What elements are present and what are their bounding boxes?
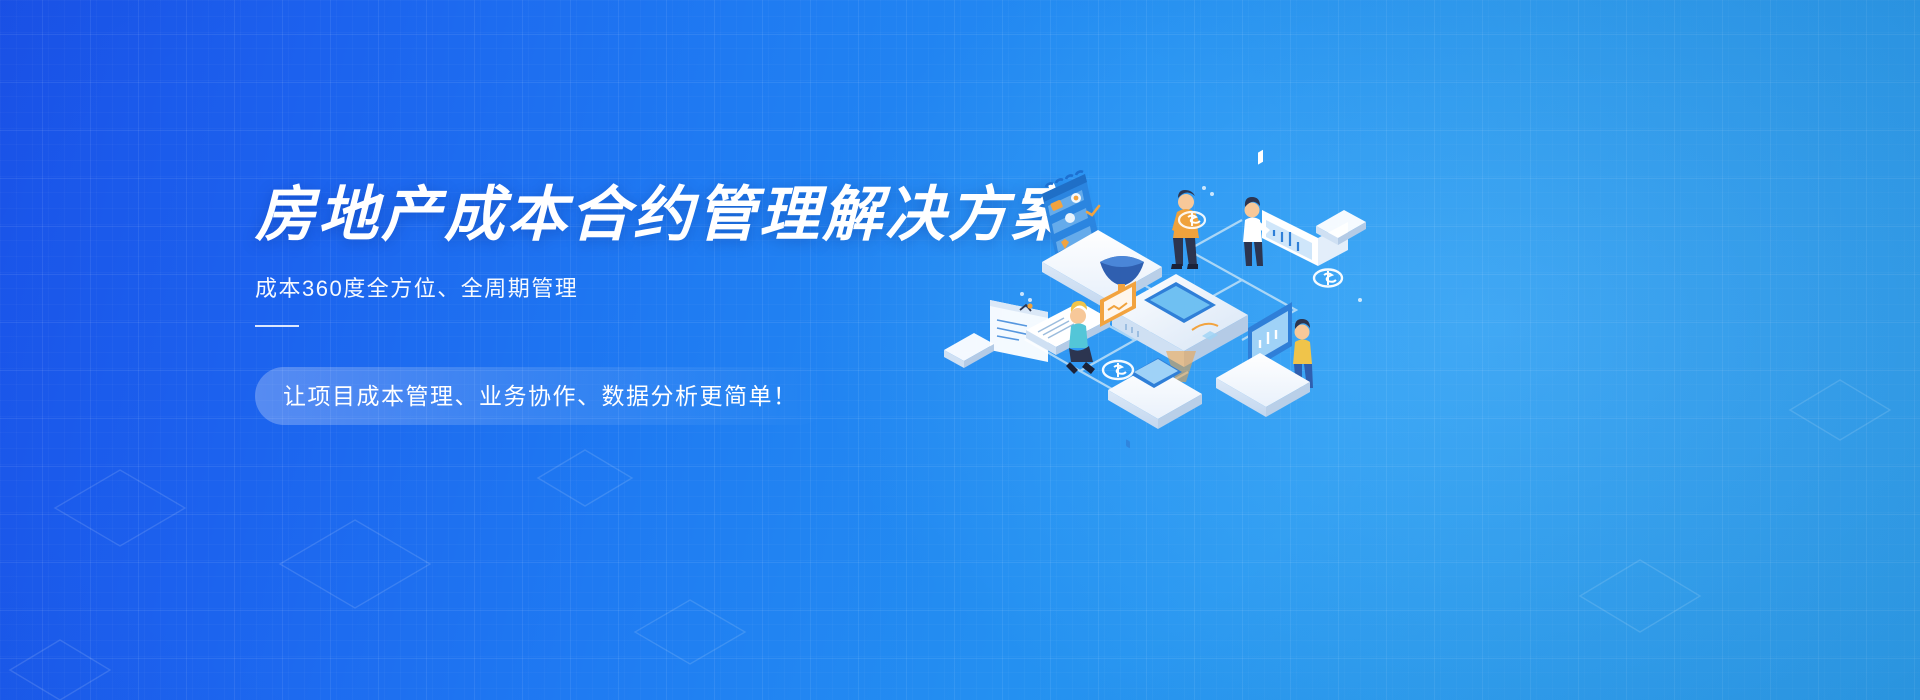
analytics-screen bbox=[1248, 150, 1292, 372]
person-standing-orange bbox=[1171, 190, 1201, 269]
page-title: 房地产成本合约管理解决方案 bbox=[255, 185, 1035, 245]
hero-copy: 房地产成本合约管理解决方案 成本360度全方位、全周期管理 让项目成本管理、业务… bbox=[255, 185, 1035, 425]
hero-illustration bbox=[930, 150, 1400, 440]
floating-card bbox=[944, 333, 994, 368]
coin-dollar bbox=[1314, 270, 1342, 287]
person-presenting-yellow bbox=[1243, 197, 1270, 266]
title-divider bbox=[255, 325, 299, 327]
hero-banner: 房地产成本合约管理解决方案 成本360度全方位、全周期管理 让项目成本管理、业务… bbox=[0, 0, 1920, 700]
coin-dollar bbox=[1103, 361, 1133, 379]
tagline-pill: 让项目成本管理、业务协作、数据分析更简单！ bbox=[255, 367, 828, 425]
page-subtitle: 成本360度全方位、全周期管理 bbox=[255, 271, 1035, 303]
